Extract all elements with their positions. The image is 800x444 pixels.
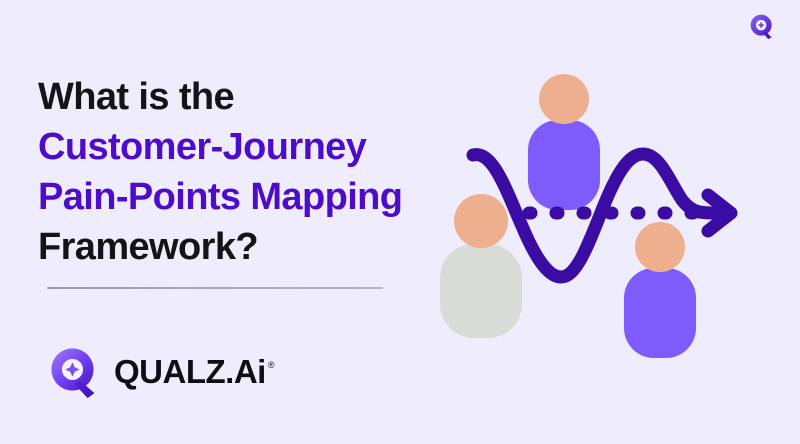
page-title: What is the Customer-Journey Pain-Points… [38,72,458,272]
corner-brand-mark [748,12,776,40]
headline-divider [47,287,383,289]
illustration-svg [430,58,770,368]
person-inactive-left [440,194,522,338]
person-head [635,222,685,272]
person-active-top [528,74,600,210]
social-card: What is the Customer-Journey Pain-Points… [0,0,800,444]
headline-line-1: What is the [38,72,458,122]
qualz-q-mark-icon [48,345,102,399]
trademark-symbol: ® [268,361,275,370]
brand-wordmark: QUALZ.Ai ® [114,345,274,399]
headline-line-4: Framework? [38,222,458,272]
customer-journey-wave-illustration [430,58,770,368]
person-body [528,120,600,210]
headline-line-3: Pain-Points Mapping [38,172,458,222]
person-active-bottom-right [624,222,696,358]
person-body [624,268,696,358]
person-head [539,74,589,124]
person-head [454,194,508,248]
person-body [440,244,522,338]
qualz-q-mark-icon [748,12,776,40]
headline-line-2: Customer-Journey [38,122,458,172]
brand-wordmark-text: QUALZ.Ai [114,345,266,399]
brand-logo[interactable]: QUALZ.Ai ® [48,345,274,399]
